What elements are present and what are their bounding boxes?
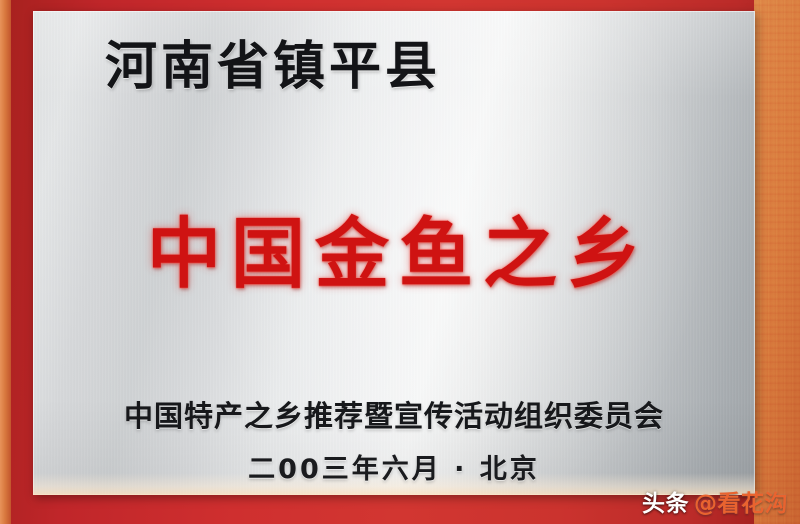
watermark-handle: @看花沟 <box>694 484 788 518</box>
plaque-title: 河南省镇平县 <box>105 37 441 97</box>
watermark-brand: 头条 <box>642 484 689 518</box>
watermark: 头条 @看花沟 <box>642 484 788 518</box>
plaque-headline: 中国金鱼之乡 <box>33 192 755 303</box>
plaque-photo: 河南省镇平县 中国金鱼之乡 中国特产之乡推荐暨宣传活动组织委员会 二00三年六月… <box>0 0 800 524</box>
plaque-date-location: 二00三年六月 · 北京 <box>33 447 755 486</box>
plaque-issuing-organization: 中国特产之乡推荐暨宣传活动组织委员会 <box>33 393 755 435</box>
left-wood-edge-strip <box>0 0 11 524</box>
metal-plaque: 河南省镇平县 中国金鱼之乡 中国特产之乡推荐暨宣传活动组织委员会 二00三年六月… <box>33 11 755 495</box>
